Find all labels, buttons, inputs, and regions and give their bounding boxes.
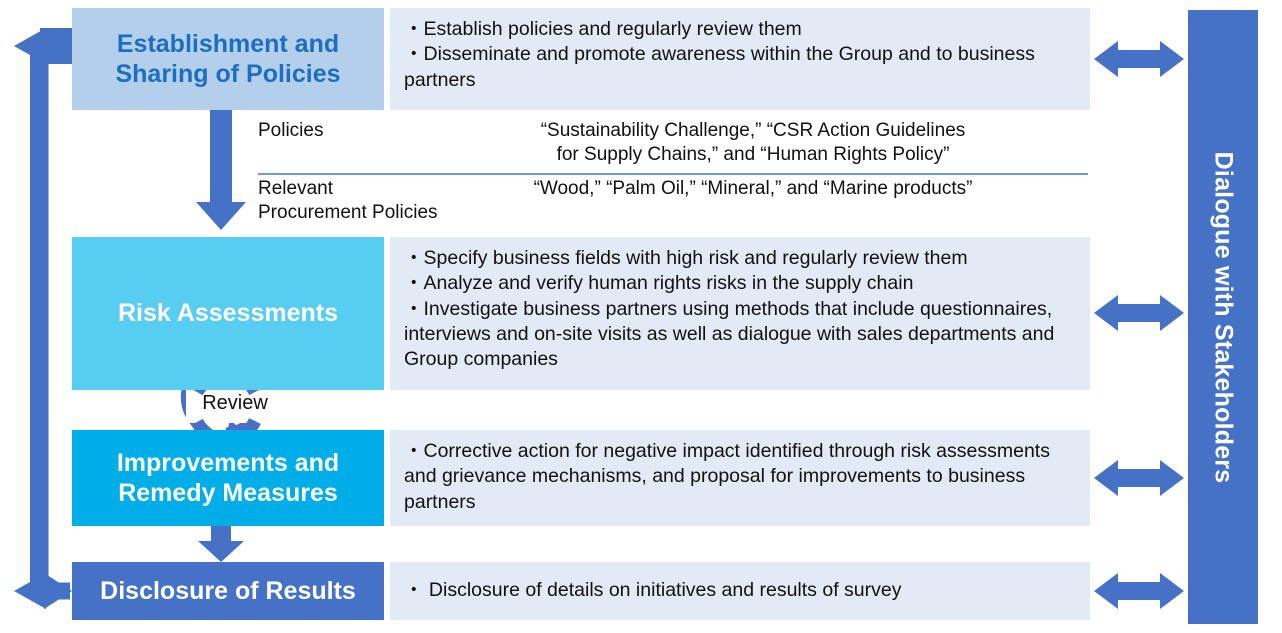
stage-label-improvements-and-remedy-measures[interactable]: Improvements and Remedy Measures — [72, 430, 384, 526]
arrow-improvements-to-disclosure — [198, 526, 244, 562]
stakeholder-dialogue-label: Dialogue with Stakeholders — [1209, 151, 1238, 483]
stage-description-improvements-and-remedy-measures: ・Corrective action for negative impact i… — [390, 430, 1090, 526]
stage-description-disclosure-of-results: ・ Disclosure of details on initiatives a… — [390, 562, 1090, 620]
stage-description-establishment-and-sharing-of-policies: ・Establish policies and regularly review… — [390, 8, 1090, 110]
stage-label-text: Improvements and Remedy Measures — [109, 448, 347, 509]
feedback-loop-arrow — [14, 28, 72, 609]
review-cycle: Review — [176, 368, 294, 442]
stage-description-risk-assessments: ・Specify business fields with high risk … — [390, 237, 1090, 390]
double-arrow-risk-stakeholders — [1094, 295, 1184, 331]
double-arrow-disclosure-stakeholders — [1094, 573, 1184, 609]
double-arrow-improvements-stakeholders — [1094, 460, 1184, 496]
policy-table-value-relevant-procurement-policies: “Wood,” “Palm Oil,” “Mineral,” and “Mari… — [483, 177, 1023, 201]
stakeholder-dialogue-bar[interactable]: Dialogue with Stakeholders — [1188, 10, 1258, 624]
policy-table: Policies “Sustainability Challenge,” “CS… — [258, 119, 1088, 229]
double-arrow-policies-stakeholders — [1094, 41, 1184, 77]
stage-label-establishment-and-sharing-of-policies[interactable]: Establishment and Sharing of Policies — [72, 8, 384, 110]
stage-label-disclosure-of-results[interactable]: Disclosure of Results — [72, 562, 384, 620]
arrow-policies-to-risk — [196, 110, 246, 230]
policy-table-value-policies: “Sustainability Challenge,” “CSR Action … — [483, 119, 1023, 168]
policy-table-key-relevant-procurement-policies: Relevant Procurement Policies — [258, 177, 438, 226]
diagram-canvas: Review Establishment and Sharing of Poli… — [0, 0, 1282, 633]
stage-label-text: Establishment and Sharing of Policies — [107, 29, 348, 90]
policy-table-key-policies: Policies — [258, 119, 323, 143]
stage-label-text: Disclosure of Results — [92, 576, 364, 607]
policy-table-divider — [258, 173, 1088, 175]
review-label: Review — [176, 392, 294, 415]
stage-label-text: Risk Assessments — [110, 298, 346, 329]
